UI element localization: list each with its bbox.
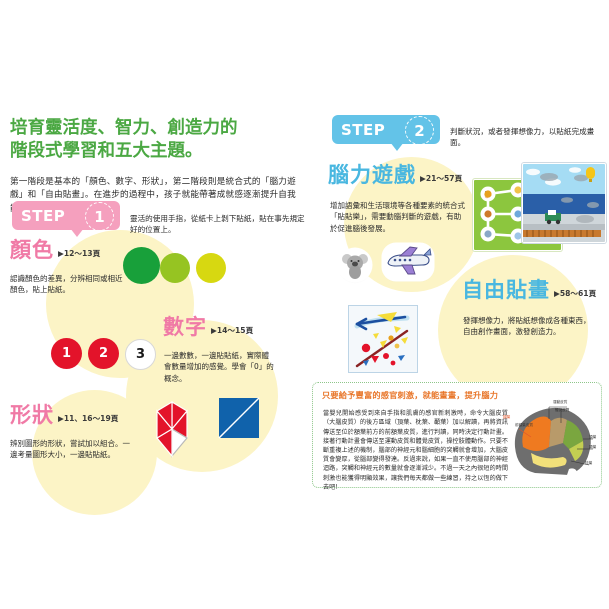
theme-number-heading: 數字 ▶14～15頁 xyxy=(163,317,253,338)
free-collage-svg xyxy=(349,306,417,372)
step-2-bubble-tail xyxy=(390,142,404,151)
free-collage-illustration xyxy=(348,305,418,373)
info-box-body: 當嬰兒開始感受到來自手指和肌膚的感官新刺激時，命令大腦皮質（大腦皮質）的後方區域… xyxy=(323,409,508,492)
page-title-line1: 培育靈活度、智力、創造力的 xyxy=(10,118,238,138)
theme-number-description: 一邊數數，一邊貼貼紙，實際體會數量增加的感覺。學會「0」的概念。 xyxy=(164,350,274,385)
theme-shape-pages: ▶11、16～19頁 xyxy=(58,413,118,426)
number-token-1: 1 xyxy=(51,338,82,369)
theme-free-sticker-title: 自由貼畫 xyxy=(462,280,550,301)
square-shape-figure xyxy=(218,397,260,439)
step-2-bubble: STEP 2 xyxy=(332,115,440,144)
step-2-word: STEP xyxy=(341,121,385,139)
info-box: 只要給予豐富的感官刺激，就能畫畫，提升腦力 當嬰兒開始感受到來自手指和肌膚的感官… xyxy=(312,382,602,488)
airplane-sticker xyxy=(384,245,432,279)
left-column: 培育靈活度、智力、創造力的 階段式學習和五大主題。 第一階段是基本的「顏色、數字… xyxy=(8,105,308,505)
harbour-scene-svg xyxy=(523,164,605,242)
brain-label-temporal: 顳葉 xyxy=(589,445,596,450)
step-2-description: 判斷狀況，或者發揮想像力，以貼紙完成畫面。 xyxy=(450,126,600,149)
page-root: 培育靈活度、智力、創造力的 階段式學習和五大主題。 第一階段是基本的「顏色、數字… xyxy=(0,0,609,609)
koala-icon xyxy=(340,250,370,280)
color-swatch-green xyxy=(123,247,160,284)
brain-label-parietal: 頂葉 xyxy=(589,435,596,440)
number-token-2: 2 xyxy=(88,338,119,369)
harbour-scene-illustration xyxy=(522,163,606,243)
number-token-3: 3 xyxy=(125,339,156,370)
theme-color-pages: ▶12～13頁 xyxy=(58,248,100,261)
theme-brain-game-description: 增加語彙和生活環境等各種要素的統合式「貼貼樂」，需要動腦判斷的遊戲，有助於促進腦… xyxy=(330,200,465,235)
step-2-badge: STEP 2 xyxy=(332,115,442,147)
theme-free-sticker-description: 發揮想像力，將貼紙想像成各種東西，自由創作畫面，激發創造力。 xyxy=(463,315,593,338)
theme-shape-title: 形狀 xyxy=(10,405,54,426)
page-title-line2: 階段式學習和五大主題。 xyxy=(10,141,203,161)
theme-color-description: 認識顏色的差異，分辨相同或相近顏色，貼上貼紙。 xyxy=(10,273,128,296)
theme-number-pages: ▶14～15頁 xyxy=(211,325,253,338)
step-2-number: 2 xyxy=(405,116,434,145)
step-1-description: 靈活的使用手指，從紙卡上剝下貼紙，貼在事先規定好的位置上。 xyxy=(130,213,305,236)
theme-number-title: 數字 xyxy=(163,317,207,338)
theme-shape-description: 辨別圖形的形狀，嘗試加以組合。一邊考量圖形大小，一邊貼貼紙。 xyxy=(10,438,130,461)
step-1-number: 1 xyxy=(85,202,114,231)
airplane-icon xyxy=(384,245,432,279)
brain-label-motor-cortex: 運動皮質 xyxy=(553,400,567,405)
color-swatch-yellow-green xyxy=(160,253,190,283)
brain-diagram-svg xyxy=(505,399,597,479)
brain-label-frontal: 額葉 xyxy=(503,415,510,420)
theme-color-title: 顏色 xyxy=(10,240,54,261)
theme-shape-heading: 形狀 ▶11、16～19頁 xyxy=(10,405,118,426)
step-1-badge: STEP 1 xyxy=(12,201,122,233)
theme-brain-game-heading: 腦力遊戲 ▶21～57頁 xyxy=(328,165,462,186)
step-1-bubble: STEP 1 xyxy=(12,201,120,230)
hexagon-shape-figure xyxy=(141,400,203,458)
koala-sticker xyxy=(340,250,370,280)
theme-free-sticker-heading: 自由貼畫 ▶58～61頁 xyxy=(462,280,596,301)
step-1-word: STEP xyxy=(21,207,65,225)
brain-label-occipital: 枕葉 xyxy=(585,461,592,466)
theme-free-sticker-pages: ▶58～61頁 xyxy=(554,288,596,301)
brain-diagram: 額葉 運動皮質 體覺皮質 前額葉皮質 頂葉 顳葉 枕葉 xyxy=(505,399,597,479)
theme-brain-game-title: 腦力遊戲 xyxy=(328,165,416,186)
color-swatch-yellow xyxy=(196,253,226,283)
step-1-bubble-tail xyxy=(70,228,84,237)
theme-color-heading: 顏色 ▶12～13頁 xyxy=(10,240,100,261)
page-title: 培育靈活度、智力、創造力的 階段式學習和五大主題。 xyxy=(10,117,300,163)
theme-brain-game-pages: ▶21～57頁 xyxy=(420,173,462,186)
brain-label-somatosensory-cortex: 體覺皮質 xyxy=(555,408,569,413)
info-box-title: 只要給予豐富的感官刺激，就能畫畫，提升腦力 xyxy=(322,389,498,401)
brain-label-prefrontal-cortex: 前額葉皮質 xyxy=(515,423,533,428)
